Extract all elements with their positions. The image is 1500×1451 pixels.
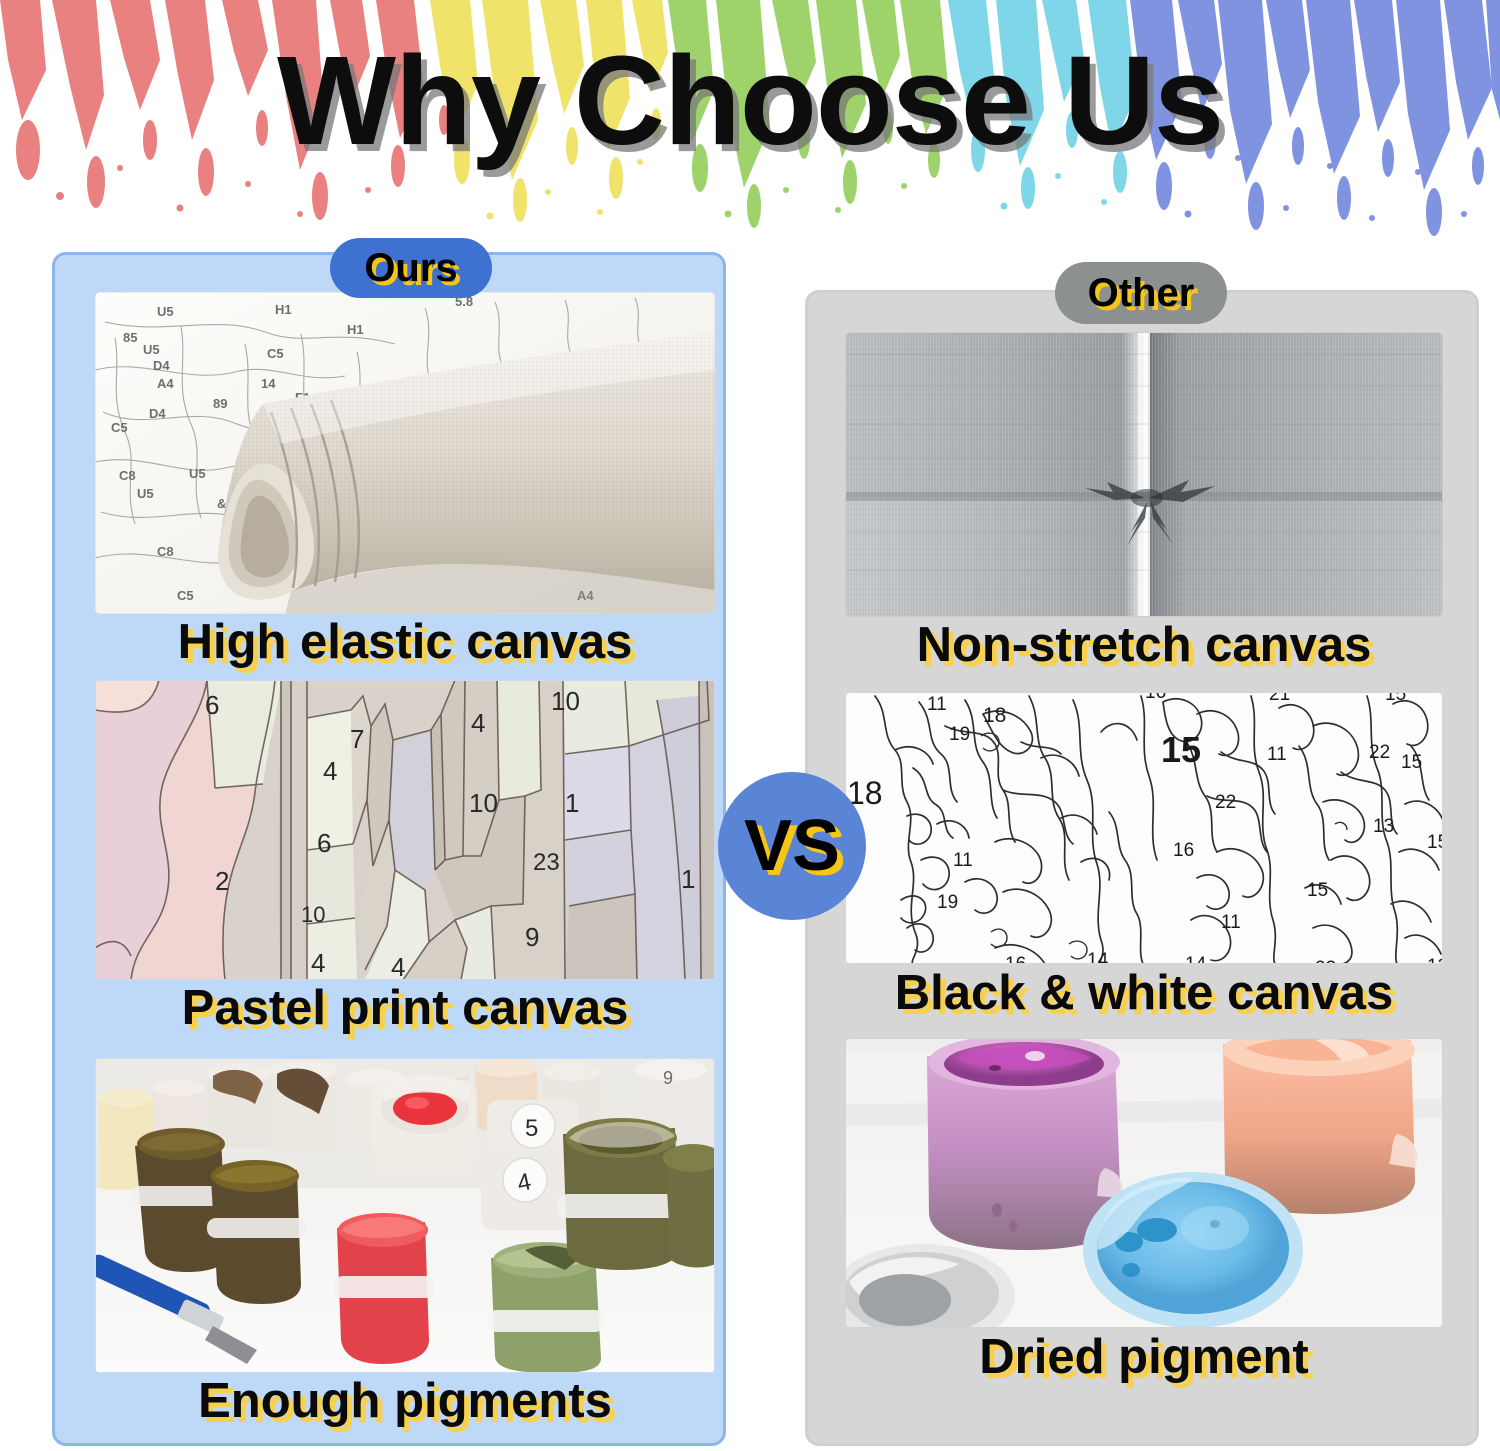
pastel-print-canvas-photo: 6 7 4 6 2 10 4 4 10 4 10 1 23 9 1 — [95, 680, 715, 980]
ours-badge: Ours — [330, 238, 492, 298]
svg-text:15: 15 — [1427, 832, 1443, 853]
svg-text:19: 19 — [937, 892, 958, 913]
svg-text:7: 7 — [350, 724, 364, 754]
svg-text:23: 23 — [533, 849, 560, 876]
svg-text:22: 22 — [1215, 792, 1236, 813]
svg-text:19: 19 — [949, 724, 970, 745]
svg-text:1: 1 — [681, 864, 695, 894]
svg-text:21: 21 — [1269, 692, 1290, 705]
svg-text:15: 15 — [1307, 880, 1328, 901]
svg-text:C8: C8 — [157, 544, 174, 559]
svg-text:9: 9 — [663, 1068, 673, 1088]
svg-text:U5: U5 — [157, 304, 174, 319]
svg-text:A4: A4 — [157, 376, 174, 391]
svg-text:C5: C5 — [111, 420, 128, 435]
svg-text:D4: D4 — [149, 406, 166, 421]
svg-text:15: 15 — [1161, 729, 1201, 770]
other-item-2-caption: Black & white canvas — [820, 968, 1468, 1019]
svg-text:14: 14 — [1185, 954, 1207, 964]
svg-text:D4: D4 — [153, 358, 170, 373]
vs-badge: VS — [718, 772, 866, 920]
svg-text:6: 6 — [205, 690, 219, 720]
ours-item-3-caption: Enough pigments — [95, 1376, 715, 1427]
svg-text:16: 16 — [1005, 954, 1026, 964]
header-banner: Why Choose Us — [0, 0, 1500, 240]
other-badge: Other — [1055, 262, 1227, 324]
svg-text:13: 13 — [1373, 816, 1394, 837]
svg-text:H1: H1 — [275, 302, 292, 317]
svg-text:C5: C5 — [177, 588, 194, 603]
svg-text:15: 15 — [1401, 752, 1422, 773]
svg-text:10: 10 — [469, 788, 498, 818]
creased-canvas-photo — [845, 332, 1443, 617]
svg-text:U5: U5 — [189, 466, 206, 481]
svg-text:22: 22 — [1369, 742, 1390, 763]
page-title: Why Choose Us — [0, 38, 1500, 164]
svg-text:U5: U5 — [137, 486, 154, 501]
rolled-canvas-photo: U5H1 H185 U5D4 A414 89F1 C5C5 D4C8 U5U5 … — [95, 292, 715, 614]
svg-text:10: 10 — [301, 902, 325, 927]
svg-text:4: 4 — [323, 756, 337, 786]
svg-text:4: 4 — [391, 952, 405, 980]
svg-text:18: 18 — [983, 704, 1006, 727]
svg-text:10: 10 — [551, 686, 580, 716]
svg-text:16: 16 — [1173, 840, 1194, 861]
svg-text:85: 85 — [123, 330, 137, 345]
svg-text:11: 11 — [1221, 912, 1241, 933]
svg-text:U5: U5 — [143, 342, 160, 357]
svg-text:9: 9 — [525, 922, 539, 952]
svg-text:4: 4 — [311, 948, 325, 978]
svg-text:5: 5 — [525, 1115, 538, 1142]
other-item-1-caption: Non-stretch canvas — [830, 620, 1458, 671]
ours-item-2-caption: Pastel print canvas — [95, 983, 715, 1034]
svg-text:2: 2 — [215, 866, 229, 896]
bw-line-canvas-photo: 11 18 19 18 11 19 16 14 15 22 16 11 14 1… — [845, 692, 1443, 964]
svg-text:1: 1 — [565, 788, 579, 818]
svg-text:11: 11 — [927, 694, 947, 715]
svg-text:C8: C8 — [119, 468, 136, 483]
svg-text:16: 16 — [1145, 692, 1166, 703]
dried-pigment-photo — [845, 1038, 1443, 1328]
svg-text:C5: C5 — [267, 346, 284, 361]
svg-text:11: 11 — [1267, 744, 1287, 765]
svg-text:89: 89 — [213, 396, 227, 411]
paint-pots-photo: 9 5 4 — [95, 1058, 715, 1373]
ours-item-1-caption: High elastic canvas — [95, 617, 715, 668]
other-item-3-caption: Dried pigment — [845, 1332, 1443, 1383]
svg-text:14: 14 — [261, 376, 276, 391]
svg-text:11: 11 — [953, 850, 973, 871]
svg-text:14: 14 — [1087, 950, 1109, 964]
svg-text:&: & — [217, 496, 226, 511]
svg-text:4: 4 — [471, 708, 485, 738]
svg-text:6: 6 — [317, 828, 331, 858]
svg-text:H1: H1 — [347, 322, 364, 337]
svg-text:15: 15 — [1385, 692, 1406, 705]
